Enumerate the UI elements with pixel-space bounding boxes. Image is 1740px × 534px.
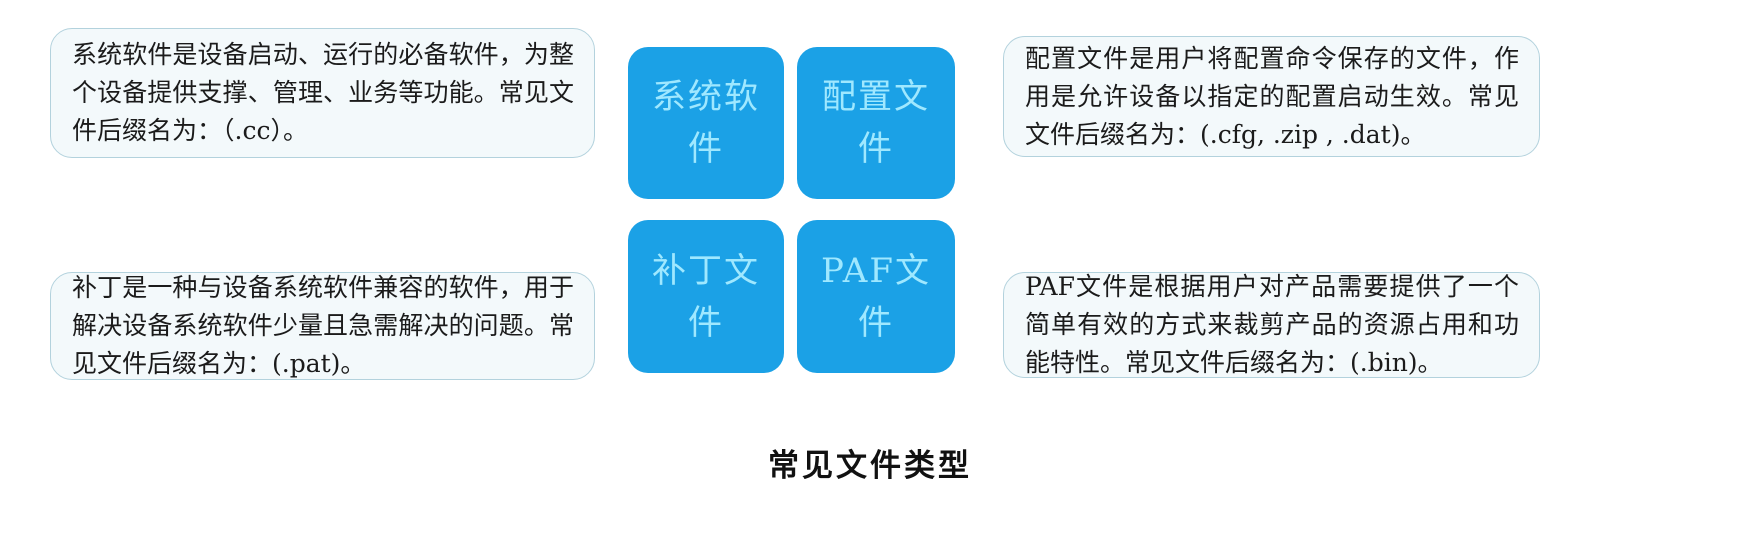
callout-config-file: 配置文件是用户将配置命令保存的文件，作用是允许设备以指定的配置启动生效。常见文件… bbox=[1003, 36, 1540, 157]
callout-patch-file-text: 补丁是一种与设备系统软件兼容的软件，用于解决设备系统软件少量且急需解决的问题。常… bbox=[51, 269, 594, 383]
node-paf-file[interactable]: PAF文件 bbox=[797, 220, 955, 373]
diagram-title: 常见文件类型 bbox=[0, 440, 1740, 485]
node-config-file[interactable]: 配置文件 bbox=[797, 47, 955, 199]
callout-system-software-text: 系统软件是设备启动、运行的必备软件，为整个设备提供支撑、管理、业务等功能。常见文… bbox=[51, 36, 594, 150]
node-config-file-label: 配置文件 bbox=[797, 71, 955, 175]
node-patch-file[interactable]: 补丁文件 bbox=[628, 220, 784, 373]
node-paf-file-label: PAF文件 bbox=[797, 245, 955, 349]
node-system-software-label: 系统软件 bbox=[628, 71, 784, 175]
callout-system-software: 系统软件是设备启动、运行的必备软件，为整个设备提供支撑、管理、业务等功能。常见文… bbox=[50, 28, 595, 158]
diagram-canvas: 系统软件是设备启动、运行的必备软件，为整个设备提供支撑、管理、业务等功能。常见文… bbox=[0, 0, 1740, 534]
node-system-software[interactable]: 系统软件 bbox=[628, 47, 784, 199]
callout-patch-file: 补丁是一种与设备系统软件兼容的软件，用于解决设备系统软件少量且急需解决的问题。常… bbox=[50, 272, 595, 380]
callout-paf-file: PAF文件是根据用户对产品需要提供了一个简单有效的方式来裁剪产品的资源占用和功能… bbox=[1003, 272, 1540, 378]
node-patch-file-label: 补丁文件 bbox=[628, 245, 784, 349]
callout-paf-file-text: PAF文件是根据用户对产品需要提供了一个简单有效的方式来裁剪产品的资源占用和功能… bbox=[1004, 268, 1539, 382]
callout-config-file-text: 配置文件是用户将配置命令保存的文件，作用是允许设备以指定的配置启动生效。常见文件… bbox=[1004, 40, 1539, 154]
